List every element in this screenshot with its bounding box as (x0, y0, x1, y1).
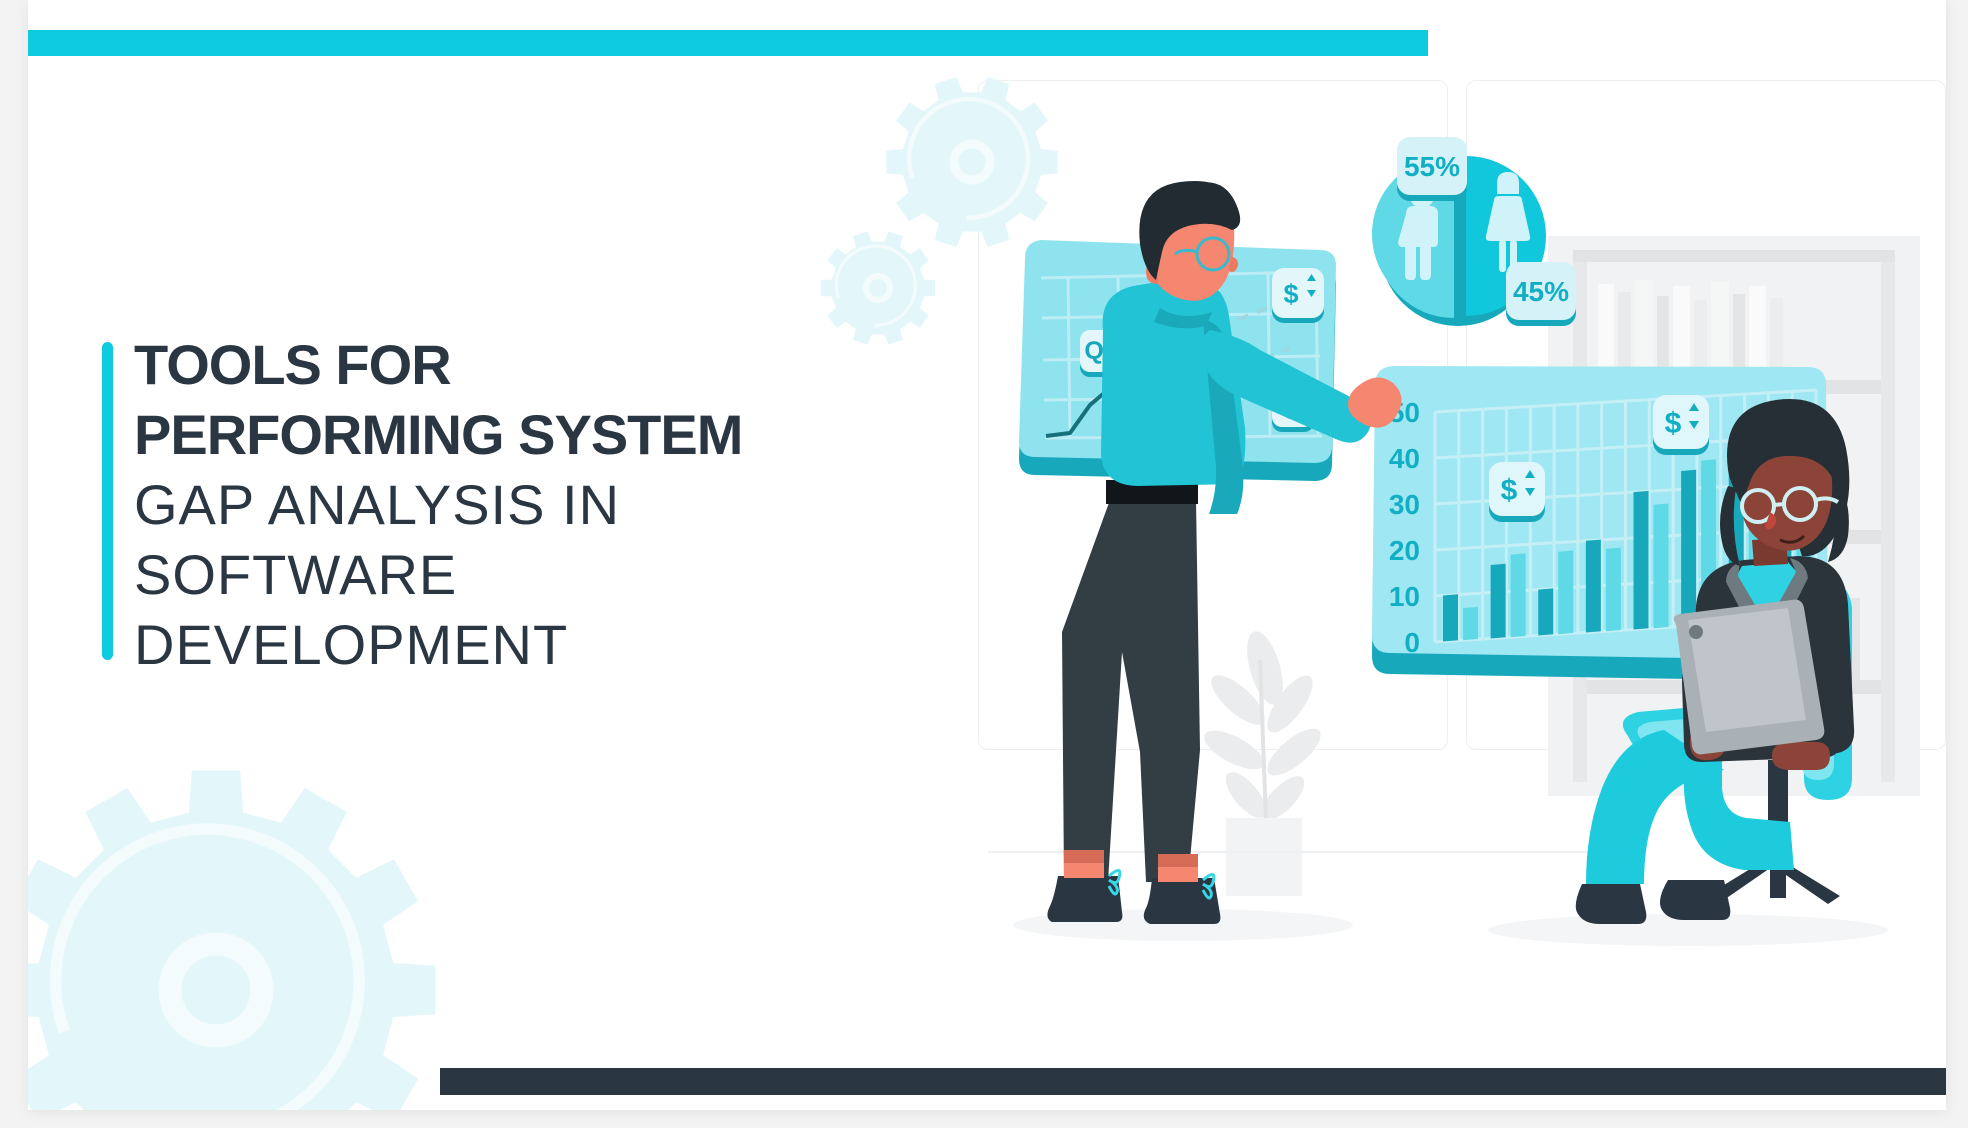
illustration-svg: Q1 Q2 $ (28, 0, 1946, 1110)
pie-label-55: 55% (1397, 137, 1467, 201)
pie-label-55-text: 55% (1404, 151, 1460, 182)
illustration: Q1 Q2 $ (28, 0, 1946, 1110)
bar-actual-3 (1538, 588, 1553, 635)
bar-target-3 (1558, 551, 1573, 635)
badge-dollar-stepper: $ (1272, 268, 1324, 323)
bar-actual-2 (1491, 564, 1506, 639)
badge-dollar-stepper-right: $ (1653, 395, 1709, 455)
pie-label-45-text: 45% (1513, 276, 1569, 307)
dollar-sign-icon: $ (1501, 474, 1518, 507)
potted-plant (1199, 627, 1328, 896)
y-tick-label-40: 40 (1389, 443, 1420, 474)
bar-actual-1 (1443, 594, 1458, 641)
y-tick-label-0: 0 (1404, 627, 1420, 658)
shoe-right (1144, 878, 1221, 924)
gender-split-pie: 55% 45% (1372, 137, 1576, 326)
y-tick-label-10: 10 (1389, 581, 1420, 612)
badge-dollar-stepper-left: $ (1489, 462, 1545, 522)
dollar-sign-icon: $ (1283, 279, 1298, 309)
bar-target-4 (1606, 548, 1621, 632)
bar-target-5 (1654, 504, 1669, 629)
y-tick-label-20: 20 (1389, 535, 1420, 566)
slide-canvas: TOOLS FORPERFORMING SYSTEMGAP ANALYSIS I… (28, 0, 1946, 1110)
bar-actual-5 (1634, 491, 1649, 630)
tablet-camera-icon (1689, 625, 1703, 639)
bar-target-1 (1463, 607, 1478, 640)
dollar-sign-icon: $ (1665, 407, 1682, 440)
bar-actual-4 (1586, 540, 1601, 633)
pie-label-45: 45% (1506, 262, 1576, 326)
bar-target-2 (1511, 553, 1526, 637)
y-tick-label-30: 30 (1389, 489, 1420, 520)
bar-actual-6 (1681, 470, 1696, 627)
